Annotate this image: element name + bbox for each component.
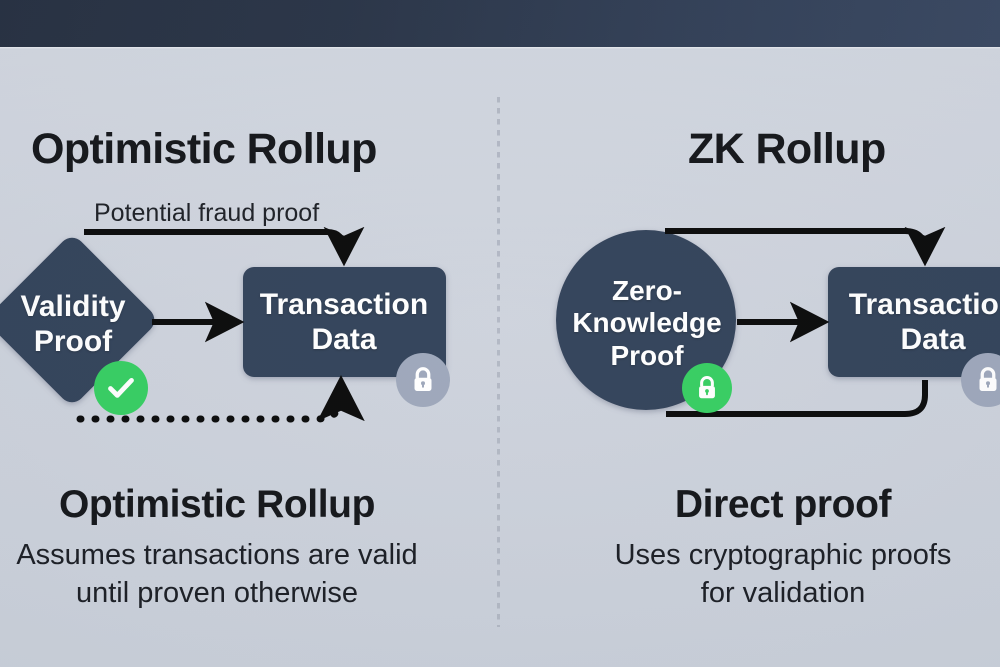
status-badge-locked-proof xyxy=(682,363,732,413)
summary-title-left: Optimistic Rollup xyxy=(0,483,452,527)
lock-icon xyxy=(408,365,438,395)
summary-title-right: Direct proof xyxy=(548,483,1000,527)
lock-icon xyxy=(973,365,1000,395)
status-badge-locked-data-left xyxy=(396,353,450,407)
check-icon xyxy=(104,371,138,405)
infographic-canvas: Optimistic Rollup ZK Rollup xyxy=(0,0,1000,667)
arrow-fraud-proof xyxy=(84,232,344,258)
summary-body-right: Uses cryptographic proofs for validation xyxy=(548,536,1000,613)
summary-left: Optimistic Rollup Assumes transactions a… xyxy=(0,483,452,613)
flow-caption-fraud-proof: Potential fraud proof xyxy=(94,199,319,228)
summary-right: Direct proof Uses cryptographic proofs f… xyxy=(548,483,1000,613)
lock-icon xyxy=(693,374,721,402)
status-badge-valid xyxy=(94,361,148,415)
summary-body-left: Assumes transactions are valid until pro… xyxy=(0,536,452,613)
